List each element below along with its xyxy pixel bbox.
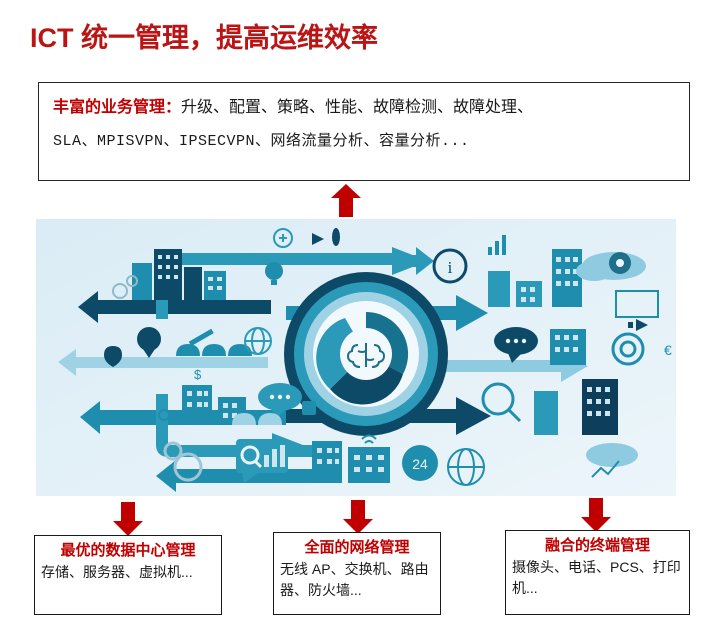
business-management-textbox: 丰富的业务管理：升级、配置、策略、性能、故障检测、故障处理、 SLA、MPISV…	[38, 82, 690, 181]
slide-canvas: ICT 统一管理，提高运维效率 丰富的业务管理：升级、配置、策略、性能、故障检测…	[0, 0, 726, 629]
page-title: ICT 统一管理，提高运维效率	[30, 16, 378, 55]
svg-text:$: $	[194, 367, 202, 382]
box-3-body: 摄像头、电话、PCS、打印机...	[512, 557, 684, 599]
textbox-line-1-rest: 升级、配置、策略、性能、故障检测、故障处理、	[181, 99, 533, 116]
red-up-arrow	[331, 184, 361, 217]
red-down-arrow-1	[113, 502, 143, 536]
box-network-management: 全面的网络管理 无线 AP、交换机、路由器、防火墙...	[273, 532, 441, 615]
svg-text:€: €	[664, 342, 672, 358]
box-2-heading: 全面的网络管理	[274, 538, 440, 558]
box-1-body: 存储、服务器、虚拟机...	[41, 562, 216, 583]
infographic-image: $	[36, 219, 676, 496]
red-down-arrow-3	[581, 498, 611, 532]
box-data-center-management: 最优的数据中心管理 存储、服务器、虚拟机...	[34, 535, 222, 615]
box-2-body: 无线 AP、交换机、路由器、防火墙...	[280, 559, 435, 601]
textbox-line-1: 丰富的业务管理：升级、配置、策略、性能、故障检测、故障处理、	[53, 91, 681, 125]
box-terminal-management: 融合的终端管理 摄像头、电话、PCS、打印机...	[505, 530, 690, 615]
textbox-label: 丰富的业务管理：	[53, 99, 181, 116]
red-down-arrow-2	[343, 500, 373, 534]
svg-text:24: 24	[412, 456, 428, 472]
textbox-line-2: SLA、MPISVPN、IPSECVPN、网络流量分析、容量分析...	[53, 125, 681, 159]
textbox-lines: 丰富的业务管理：升级、配置、策略、性能、故障检测、故障处理、 SLA、MPISV…	[53, 91, 681, 159]
svg-text:i: i	[448, 258, 453, 277]
box-3-heading: 融合的终端管理	[506, 536, 689, 556]
box-1-heading: 最优的数据中心管理	[35, 541, 221, 561]
